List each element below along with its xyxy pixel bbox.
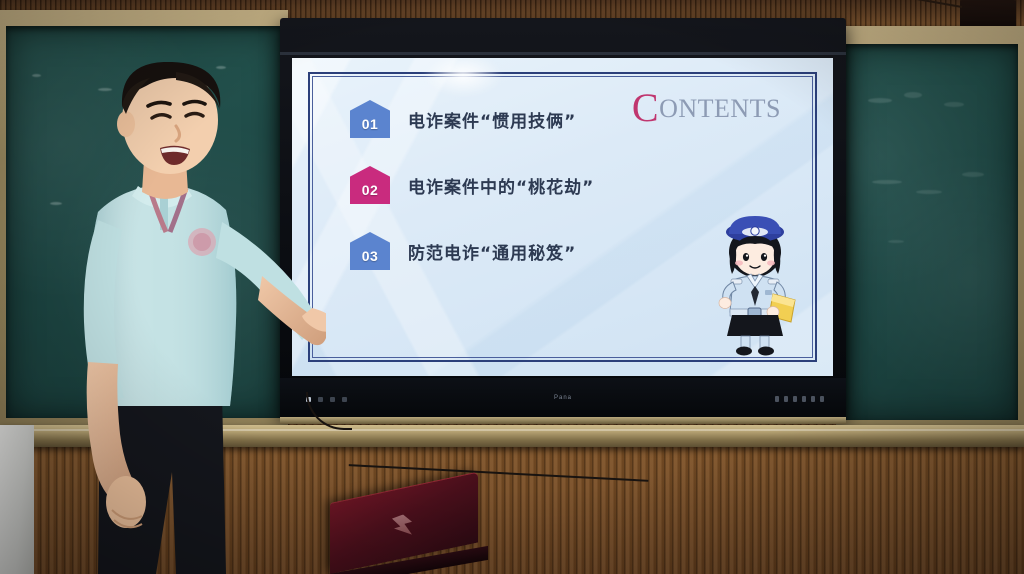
list-item[interactable]: 02 电诈案件中的“桃花劫” (350, 162, 650, 208)
right-chalkboard (846, 44, 1018, 420)
police-officer-mascot-icon (703, 208, 807, 358)
toc-label-03: 防范电诈“通用秘笈” (408, 239, 576, 264)
toc-badge-01: 01 (350, 100, 390, 138)
display-screen[interactable]: CONTENTS 01 电诈案件“惯用技俩” 02 电诈案件中的“桃花劫” 03… (292, 58, 833, 376)
interactive-display[interactable]: CONTENTS 01 电诈案件“惯用技俩” 02 电诈案件中的“桃花劫” 03… (280, 18, 846, 418)
keypad-key-icon[interactable] (802, 396, 806, 402)
list-item[interactable]: 01 电诈案件“惯用技俩” (350, 96, 650, 142)
keypad-key-icon[interactable] (811, 396, 815, 402)
slide-heading: CONTENTS (632, 88, 781, 128)
presenter-teacher (26, 62, 326, 574)
heading-rest: ONTENTS (659, 94, 781, 123)
display-brand-label: Pana (554, 395, 572, 401)
laptop-logo-icon (392, 513, 412, 539)
table-of-contents: 01 电诈案件“惯用技俩” 02 电诈案件中的“桃花劫” 03 防范电诈“通用秘… (350, 96, 650, 294)
bezel-keypad[interactable] (775, 396, 824, 402)
toc-badge-03: 03 (350, 232, 390, 270)
list-item[interactable]: 03 防范电诈“通用秘笈” (350, 228, 650, 274)
keypad-key-icon[interactable] (775, 396, 779, 402)
keypad-key-icon[interactable] (784, 396, 788, 402)
classroom-scene: CONTENTS 01 电诈案件“惯用技俩” 02 电诈案件中的“桃花劫” 03… (0, 0, 1024, 574)
toc-label-01: 电诈案件“惯用技俩” (408, 107, 576, 132)
toc-badge-02: 02 (350, 166, 390, 204)
bezel-seam (280, 52, 846, 55)
toc-label-02: 电诈案件中的“桃花劫” (408, 173, 594, 198)
keypad-key-icon[interactable] (793, 396, 797, 402)
keypad-key-icon[interactable] (820, 396, 824, 402)
